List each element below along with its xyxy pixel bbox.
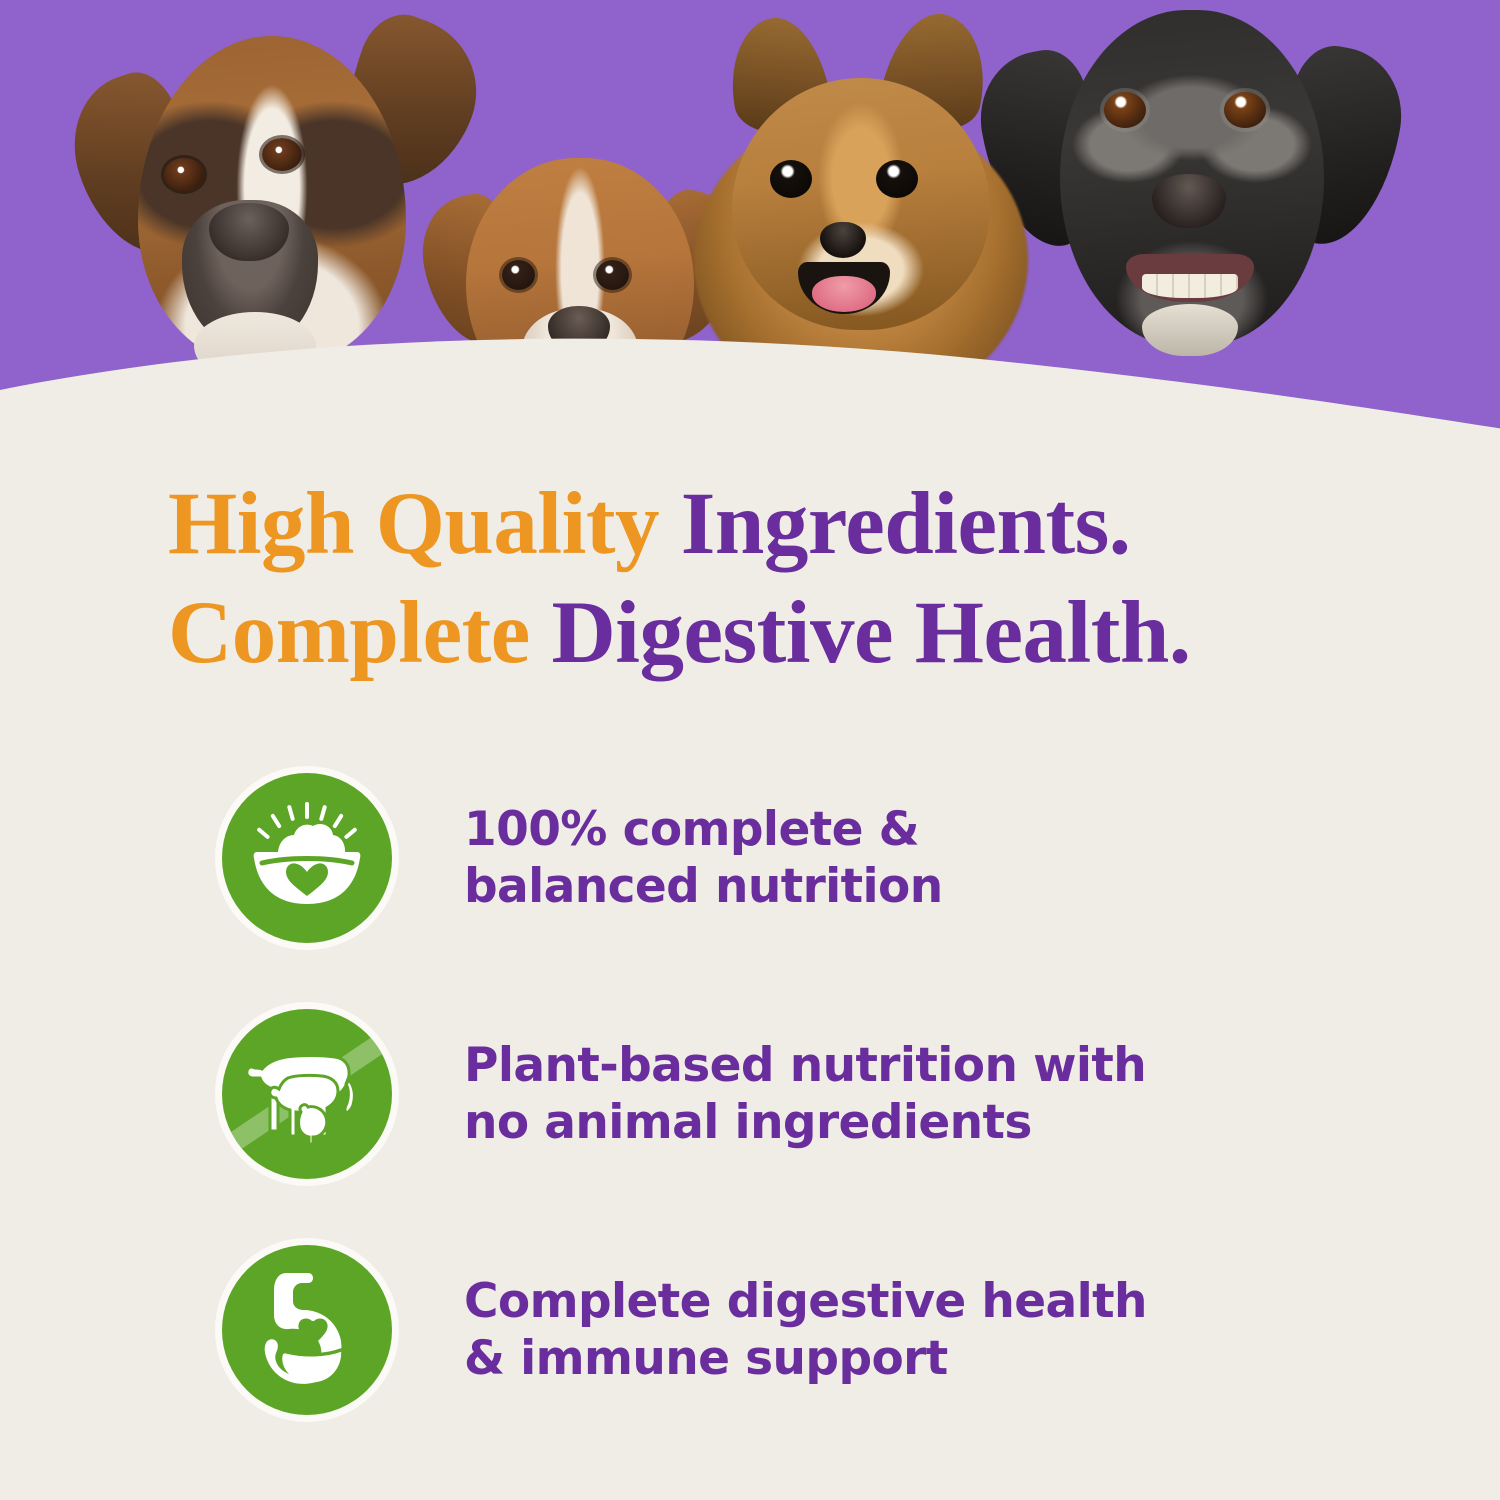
stomach-heart-icon [242, 1265, 372, 1395]
list-item-label: Plant-based nutrition with no animal ing… [464, 1037, 1146, 1152]
no-animal-ingredients-icon [222, 1009, 392, 1179]
boxer-eye-right [262, 138, 302, 171]
pomeranian-tongue [812, 276, 876, 312]
senior-nose [1152, 174, 1226, 228]
senior-eye-right [1224, 92, 1266, 128]
headline-line-1-purple: Ingredients. [681, 475, 1131, 573]
feature-list: 100% complete & balanced nutrition [0, 760, 1500, 1468]
headline-line-1-orange: High Quality [168, 475, 681, 573]
pomeranian-eye-left [770, 160, 812, 198]
headline-line-2-orange: Complete [168, 584, 552, 682]
boxer-nose [209, 203, 289, 261]
puppy-eye-left [502, 260, 535, 290]
headline-line-2-purple: Digestive Health. [552, 584, 1191, 682]
list-item: Complete digestive health & immune suppo… [0, 1232, 1500, 1428]
pomeranian-eye-right [876, 160, 918, 198]
list-item-label: Complete digestive health & immune suppo… [464, 1273, 1147, 1388]
feature-badge [222, 1009, 392, 1179]
product-feature-panel: High Quality Ingredients. Complete Diges… [0, 0, 1500, 1500]
senior-teeth [1142, 274, 1238, 298]
list-item: 100% complete & balanced nutrition [0, 760, 1500, 956]
boxer-eye-left [164, 158, 204, 191]
page-title: High Quality Ingredients. Complete Diges… [168, 470, 1388, 687]
hero-banner [0, 0, 1500, 440]
feature-badge [222, 773, 392, 943]
headline-line-1: High Quality Ingredients. [168, 470, 1388, 579]
feature-badge [222, 1245, 392, 1415]
list-item: Plant-based nutrition with no animal ing… [0, 996, 1500, 1192]
puppy-eye-right [596, 260, 629, 290]
curved-banner-divider [0, 330, 1500, 440]
senior-eye-left [1104, 92, 1146, 128]
food-bowl-heart-icon [248, 802, 366, 914]
headline-line-2: Complete Digestive Health. [168, 579, 1388, 688]
senior-black-dog [980, 0, 1400, 386]
list-item-label: 100% complete & balanced nutrition [464, 801, 943, 916]
